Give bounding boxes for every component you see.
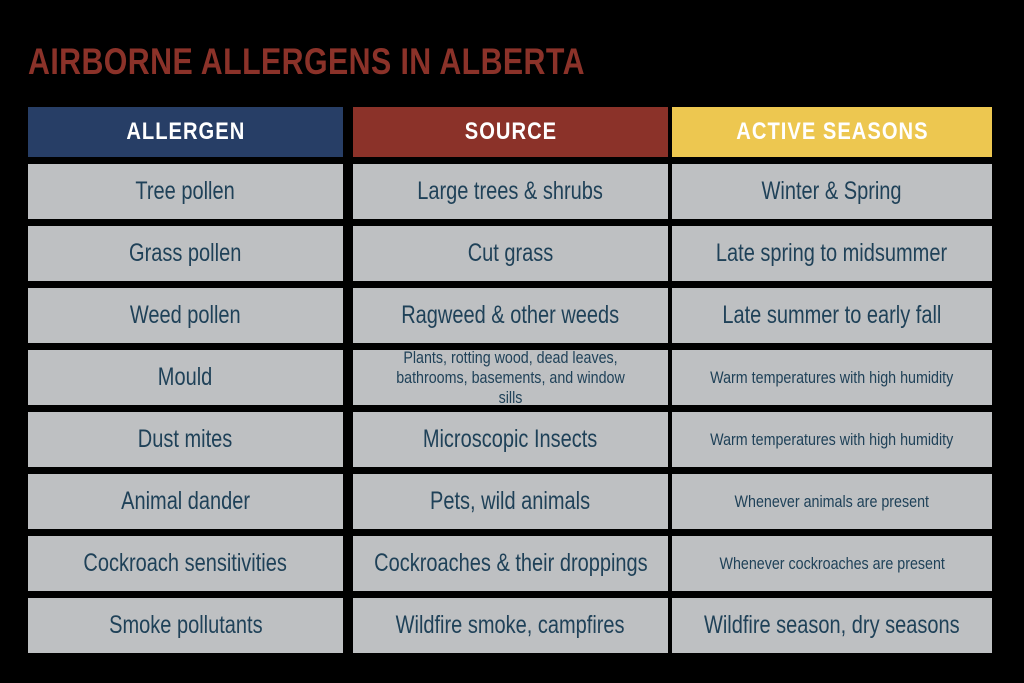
table-row: Cockroach sensitivities Cockroaches & th… xyxy=(28,536,992,591)
cell-seasons-text: Late summer to early fall xyxy=(723,302,942,329)
page-title: AIRBORNE ALLERGENS IN ALBERTA xyxy=(28,42,585,82)
cell-allergen: Weed pollen xyxy=(28,288,343,343)
cell-allergen-text: Animal dander xyxy=(121,488,250,515)
cell-allergen-text: Dust mites xyxy=(138,426,232,453)
cell-source: Ragweed & other weeds xyxy=(353,288,668,343)
cell-allergen: Cockroach sensitivities xyxy=(28,536,343,591)
infographic-root: AIRBORNE ALLERGENS IN ALBERTA ALLERGEN S… xyxy=(0,0,1024,683)
column-header-allergen-label: ALLERGEN xyxy=(126,118,245,146)
cell-source-text: Microscopic Insects xyxy=(423,426,598,453)
cell-source: Microscopic Insects xyxy=(353,412,668,467)
table-row: Animal dander Pets, wild animals Wheneve… xyxy=(28,474,992,529)
column-header-source: SOURCE xyxy=(353,107,668,157)
allergen-table: ALLERGEN SOURCE ACTIVE SEASONS Tree poll… xyxy=(28,107,992,653)
cell-seasons: Warm temperatures with high humidity xyxy=(672,412,992,467)
column-header-active-seasons-label: ACTIVE SEASONS xyxy=(736,118,928,146)
table-row: Dust mites Microscopic Insects Warm temp… xyxy=(28,412,992,467)
cell-seasons: Warm temperatures with high humidity xyxy=(672,350,992,405)
cell-seasons-text: Whenever cockroaches are present xyxy=(719,554,944,574)
cell-seasons: Whenever cockroaches are present xyxy=(672,536,992,591)
cell-source: Plants, rotting wood, dead leaves, bathr… xyxy=(353,350,668,405)
cell-seasons-text: Late spring to midsummer xyxy=(716,240,947,267)
table-row: Mould Plants, rotting wood, dead leaves,… xyxy=(28,350,992,405)
cell-allergen: Animal dander xyxy=(28,474,343,529)
cell-allergen: Grass pollen xyxy=(28,226,343,281)
cell-allergen: Tree pollen xyxy=(28,164,343,219)
cell-seasons-text: Warm temperatures with high humidity xyxy=(710,430,953,450)
cell-source: Wildfire smoke, campfires xyxy=(353,598,668,653)
table-header-row: ALLERGEN SOURCE ACTIVE SEASONS xyxy=(28,107,992,157)
table-row: Weed pollen Ragweed & other weeds Late s… xyxy=(28,288,992,343)
table-row: Smoke pollutants Wildfire smoke, campfir… xyxy=(28,598,992,653)
cell-seasons-text: Wildfire season, dry seasons xyxy=(704,612,960,639)
cell-source: Cut grass xyxy=(353,226,668,281)
cell-seasons: Late summer to early fall xyxy=(672,288,992,343)
cell-allergen: Smoke pollutants xyxy=(28,598,343,653)
cell-source: Cockroaches & their droppings xyxy=(353,536,668,591)
cell-seasons: Wildfire season, dry seasons xyxy=(672,598,992,653)
cell-source: Pets, wild animals xyxy=(353,474,668,529)
table-row: Tree pollen Large trees & shrubs Winter … xyxy=(28,164,992,219)
cell-allergen-text: Grass pollen xyxy=(129,240,241,267)
cell-allergen-text: Tree pollen xyxy=(136,178,235,205)
column-header-source-label: SOURCE xyxy=(464,118,556,146)
cell-allergen-text: Smoke pollutants xyxy=(109,612,262,639)
cell-source-text: Cockroaches & their droppings xyxy=(374,550,647,577)
cell-source: Large trees & shrubs xyxy=(353,164,668,219)
column-header-active-seasons: ACTIVE SEASONS xyxy=(672,107,992,157)
cell-source-text: Cut grass xyxy=(468,240,554,267)
cell-allergen-text: Weed pollen xyxy=(130,302,241,329)
cell-source-text: Wildfire smoke, campfires xyxy=(396,612,625,639)
cell-allergen-text: Cockroach sensitivities xyxy=(84,550,287,577)
cell-seasons: Whenever animals are present xyxy=(672,474,992,529)
column-header-allergen: ALLERGEN xyxy=(28,107,343,157)
table-row: Grass pollen Cut grass Late spring to mi… xyxy=(28,226,992,281)
cell-seasons-text: Whenever animals are present xyxy=(735,492,929,512)
cell-allergen: Mould xyxy=(28,350,343,405)
cell-source-text: Pets, wild animals xyxy=(430,488,590,515)
cell-seasons-text: Winter & Spring xyxy=(762,178,902,205)
cell-source-text: Plants, rotting wood, dead leaves, bathr… xyxy=(385,350,636,405)
cell-source-text: Ragweed & other weeds xyxy=(402,302,620,329)
cell-allergen-text: Mould xyxy=(158,364,212,391)
cell-seasons: Winter & Spring xyxy=(672,164,992,219)
cell-seasons: Late spring to midsummer xyxy=(672,226,992,281)
cell-allergen: Dust mites xyxy=(28,412,343,467)
cell-source-text: Large trees & shrubs xyxy=(418,178,604,205)
cell-seasons-text: Warm temperatures with high humidity xyxy=(710,368,953,388)
